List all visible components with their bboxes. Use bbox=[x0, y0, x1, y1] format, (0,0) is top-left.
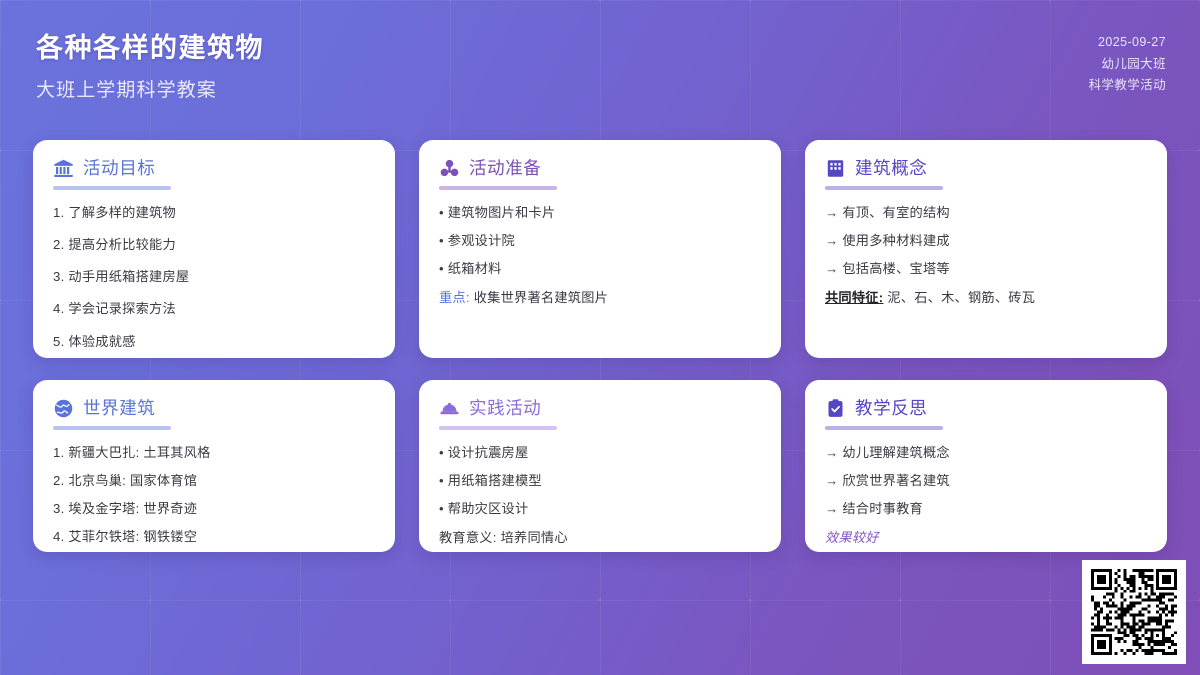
card-body: → 有顶、有室的结构→ 使用多种材料建成→ 包括高楼、宝塔等 bbox=[825, 203, 1147, 278]
title-block: 各种各样的建筑物 大班上学期科学教案 bbox=[36, 26, 264, 102]
note-text: 培养同情心 bbox=[497, 530, 568, 545]
note-text: 泥、石、木、钢筋、砖瓦 bbox=[883, 290, 1035, 305]
note-text: 效果较好 bbox=[825, 530, 879, 545]
list-item: → 有顶、有室的结构 bbox=[825, 203, 1147, 222]
clipboard-check-icon bbox=[825, 398, 846, 419]
list-item: 3. 动手用纸箱搭建房屋 bbox=[53, 267, 375, 286]
list-item: 1. 新疆大巴扎: 土耳其风格 bbox=[53, 443, 375, 462]
office-building-icon bbox=[825, 158, 846, 179]
page-title: 各种各样的建筑物 bbox=[36, 32, 264, 66]
card-title: 活动准备 bbox=[469, 160, 541, 178]
card-header: 活动目标 bbox=[53, 158, 375, 179]
qr-code-image bbox=[1091, 569, 1177, 655]
slide-root: 各种各样的建筑物 大班上学期科学教案 2025-09-27 幼儿园大班 科学教学… bbox=[0, 0, 1200, 675]
note-label: 重点: bbox=[439, 290, 470, 305]
meta-date: 2025-09-27 bbox=[1089, 32, 1166, 54]
title-underline bbox=[825, 186, 943, 190]
classical-building-icon bbox=[53, 158, 74, 179]
title-underline bbox=[53, 186, 171, 190]
card-title: 教学反思 bbox=[855, 400, 927, 418]
header-meta: 2025-09-27 幼儿园大班 科学教学活动 bbox=[1089, 26, 1166, 97]
card-body: • 设计抗震房屋• 用纸箱搭建模型• 帮助灾区设计 bbox=[439, 443, 761, 518]
title-underline bbox=[825, 426, 943, 430]
card-teaching-reflection: 教学反思→ 幼儿理解建筑概念→ 欣赏世界著名建筑→ 结合时事教育效果较好 bbox=[805, 380, 1167, 552]
list-item: 5. 体验成就感 bbox=[53, 332, 375, 351]
card-activity-preparation: 活动准备• 建筑物图片和卡片• 参观设计院• 纸箱材料重点: 收集世界著名建筑图… bbox=[419, 140, 781, 358]
list-item: → 幼儿理解建筑概念 bbox=[825, 443, 1147, 462]
card-title: 世界建筑 bbox=[83, 400, 155, 418]
card-note: 重点: 收集世界著名建筑图片 bbox=[439, 287, 761, 306]
card-activity-goals: 活动目标1. 了解多样的建筑物2. 提高分析比较能力3. 动手用纸箱搭建房屋4.… bbox=[33, 140, 395, 358]
card-body: 1. 了解多样的建筑物2. 提高分析比较能力3. 动手用纸箱搭建房屋4. 学会记… bbox=[53, 203, 375, 351]
list-item: 4. 学会记录探索方法 bbox=[53, 299, 375, 318]
meta-grade: 幼儿园大班 bbox=[1089, 54, 1166, 76]
list-item: 2. 提高分析比较能力 bbox=[53, 235, 375, 254]
title-underline bbox=[53, 426, 171, 430]
note-text: 收集世界著名建筑图片 bbox=[470, 290, 608, 305]
page-subtitle: 大班上学期科学教案 bbox=[36, 75, 264, 102]
card-title: 建筑概念 bbox=[855, 160, 927, 178]
list-item: • 设计抗震房屋 bbox=[439, 443, 761, 462]
list-item: • 帮助灾区设计 bbox=[439, 499, 761, 518]
list-item: → 欣赏世界著名建筑 bbox=[825, 471, 1147, 490]
card-header: 世界建筑 bbox=[53, 398, 375, 419]
list-item: 3. 埃及金字塔: 世界奇迹 bbox=[53, 499, 375, 518]
list-item: • 用纸箱搭建模型 bbox=[439, 471, 761, 490]
list-item: → 使用多种材料建成 bbox=[825, 231, 1147, 250]
card-note: 教育意义: 培养同情心 bbox=[439, 527, 761, 546]
card-header: 建筑概念 bbox=[825, 158, 1147, 179]
title-underline bbox=[439, 186, 557, 190]
card-header: 教学反思 bbox=[825, 398, 1147, 419]
qr-code[interactable] bbox=[1082, 560, 1186, 664]
card-body: → 幼儿理解建筑概念→ 欣赏世界著名建筑→ 结合时事教育 bbox=[825, 443, 1147, 518]
card-note: 共同特征: 泥、石、木、钢筋、砖瓦 bbox=[825, 287, 1147, 306]
card-header: 实践活动 bbox=[439, 398, 761, 419]
title-underline bbox=[439, 426, 557, 430]
list-item: • 参观设计院 bbox=[439, 231, 761, 250]
list-item: 1. 了解多样的建筑物 bbox=[53, 203, 375, 222]
hard-hat-icon bbox=[439, 398, 460, 419]
list-item: • 纸箱材料 bbox=[439, 259, 761, 278]
card-title: 活动目标 bbox=[83, 160, 155, 178]
card-header: 活动准备 bbox=[439, 158, 761, 179]
note-label: 教育意义: bbox=[439, 530, 497, 545]
slide-header: 各种各样的建筑物 大班上学期科学教案 2025-09-27 幼儿园大班 科学教学… bbox=[0, 0, 1200, 126]
meta-category: 科学教学活动 bbox=[1089, 75, 1166, 97]
list-item: → 结合时事教育 bbox=[825, 499, 1147, 518]
card-practice-activity: 实践活动• 设计抗震房屋• 用纸箱搭建模型• 帮助灾区设计教育意义: 培养同情心 bbox=[419, 380, 781, 552]
card-architecture-concept: 建筑概念→ 有顶、有室的结构→ 使用多种材料建成→ 包括高楼、宝塔等共同特征: … bbox=[805, 140, 1167, 358]
note-label: 共同特征: bbox=[825, 290, 883, 305]
globe-icon bbox=[53, 398, 74, 419]
molecule-cluster-icon bbox=[439, 158, 460, 179]
card-body: • 建筑物图片和卡片• 参观设计院• 纸箱材料 bbox=[439, 203, 761, 278]
list-item: → 包括高楼、宝塔等 bbox=[825, 259, 1147, 278]
list-item: • 建筑物图片和卡片 bbox=[439, 203, 761, 222]
card-body: 1. 新疆大巴扎: 土耳其风格2. 北京鸟巢: 国家体育馆3. 埃及金字塔: 世… bbox=[53, 443, 375, 547]
list-item: 2. 北京鸟巢: 国家体育馆 bbox=[53, 471, 375, 490]
list-item: 4. 艾菲尔铁塔: 钢铁镂空 bbox=[53, 527, 375, 546]
card-note: 效果较好 bbox=[825, 527, 1147, 546]
card-world-architecture: 世界建筑1. 新疆大巴扎: 土耳其风格2. 北京鸟巢: 国家体育馆3. 埃及金字… bbox=[33, 380, 395, 552]
card-title: 实践活动 bbox=[469, 400, 541, 418]
cards-grid: 活动目标1. 了解多样的建筑物2. 提高分析比较能力3. 动手用纸箱搭建房屋4.… bbox=[33, 140, 1167, 552]
